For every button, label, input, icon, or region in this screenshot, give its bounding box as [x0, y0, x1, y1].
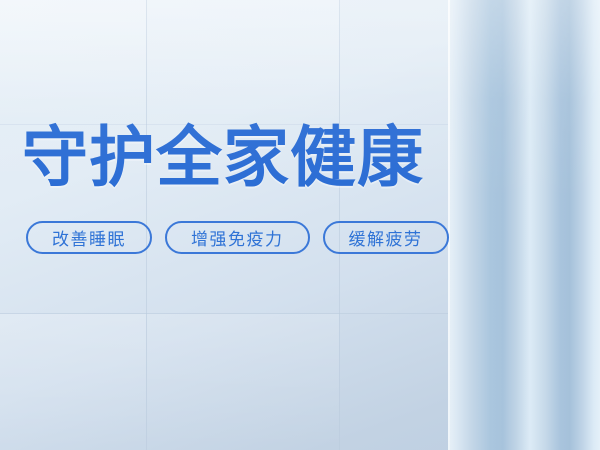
glossy-column-decoration	[448, 0, 600, 450]
wall-tile-top-left	[0, 0, 146, 124]
promo-banner: 守护全家健康 改善睡眠 增强免疫力 缓解疲劳	[0, 0, 600, 450]
feature-tag-boost-immunity[interactable]: 增强免疫力	[165, 221, 310, 254]
feature-tag-relieve-fatigue[interactable]: 缓解疲劳	[323, 221, 449, 254]
page-title: 守护全家健康	[22, 124, 424, 190]
feature-tag-list: 改善睡眠 增强免疫力 缓解疲劳	[26, 221, 449, 254]
wall-tile-bottom-left	[0, 314, 146, 450]
wall-tile-bottom-middle	[147, 314, 339, 450]
wall-tile-top-middle	[147, 0, 339, 124]
feature-tag-improve-sleep[interactable]: 改善睡眠	[26, 221, 152, 254]
